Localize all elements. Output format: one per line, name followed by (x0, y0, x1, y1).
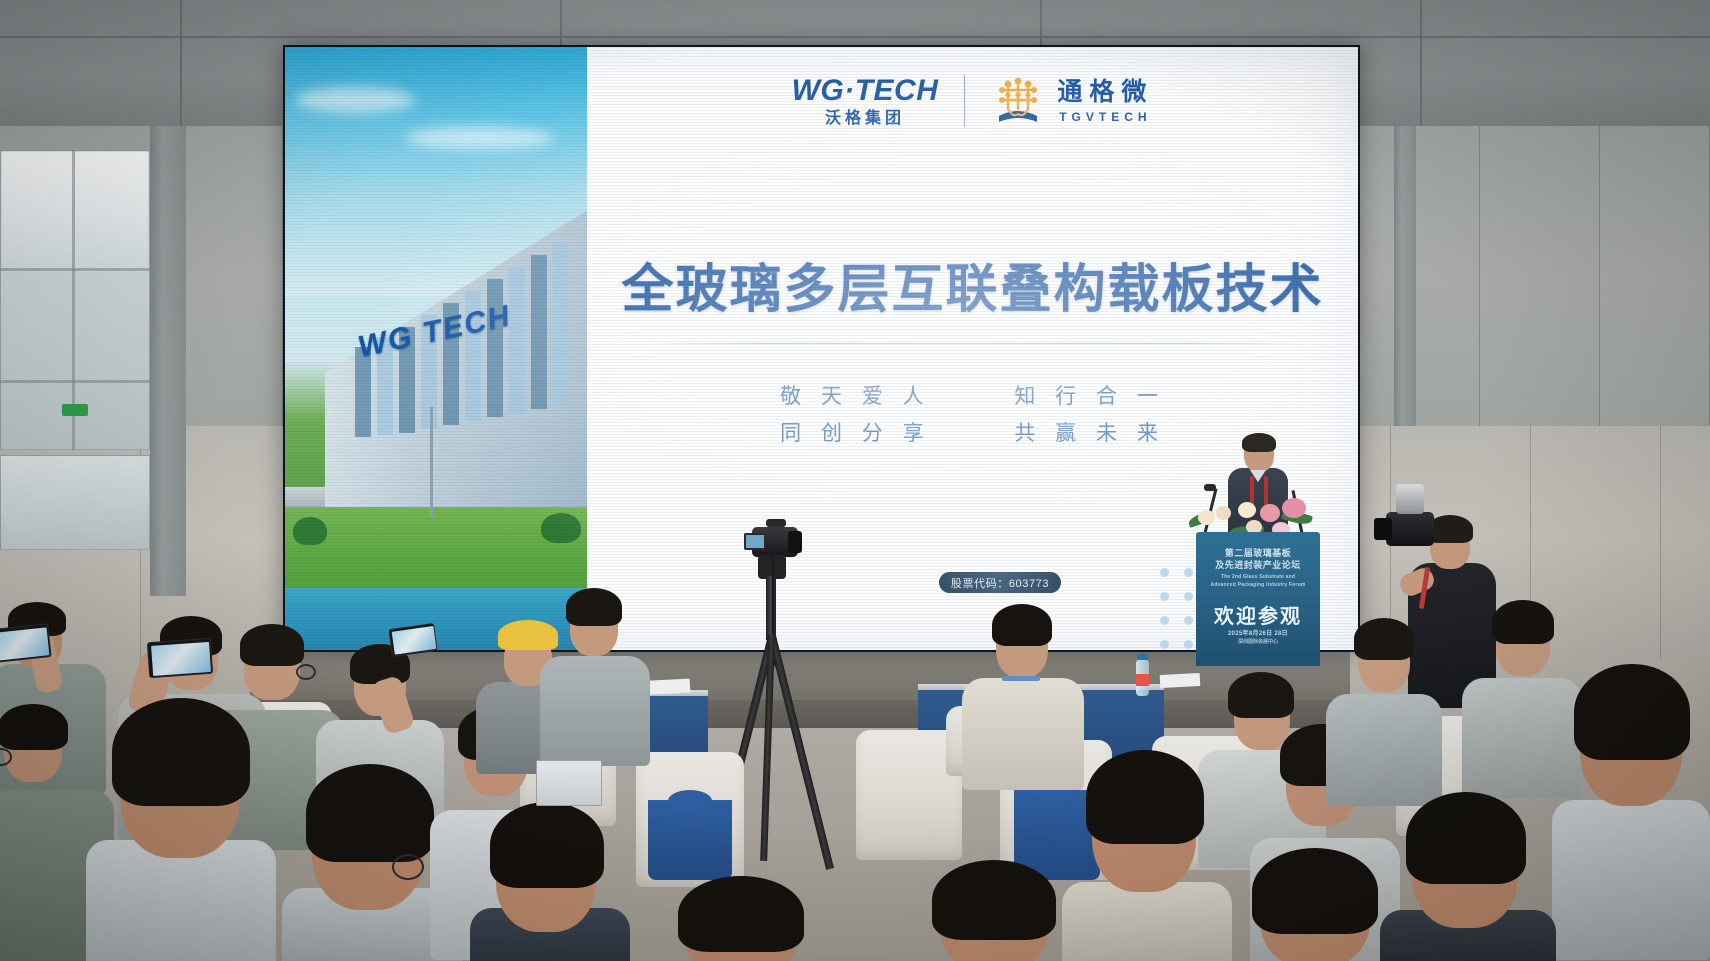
slide-title: 全玻璃多层互联叠构载板技术 (587, 247, 1358, 322)
hair (1406, 792, 1526, 884)
ceiling-seam (180, 0, 182, 126)
hair (1492, 600, 1554, 644)
hair (566, 588, 622, 626)
conference-hall-scene: WG TECH WG·TECH 沃格集团 (0, 0, 1710, 961)
wall-panel (1600, 126, 1710, 426)
podium-welcome-text: 欢迎参观 (1196, 600, 1320, 629)
smartphone (0, 623, 52, 663)
flower (1216, 506, 1231, 520)
flower-lily (1260, 504, 1280, 522)
logo-divider (964, 75, 965, 127)
window-mullion (0, 268, 150, 271)
lanyard (1002, 676, 1040, 681)
slide-building-photo: WG TECH (285, 47, 587, 650)
photo-building-window (531, 255, 547, 409)
eyeglasses (296, 664, 316, 680)
window-glare (2, 152, 148, 272)
tgvtech-logo: 通格微 TGVTECH (991, 76, 1153, 126)
ceiling-seam (0, 36, 1710, 38)
phone-screen (392, 626, 437, 655)
podium-english-line-1: The 2nd Glass Substrate and (1196, 574, 1320, 580)
torso (540, 656, 650, 766)
motto-1-right: 知 行 合 一 (1014, 385, 1165, 408)
flower-lily (1282, 498, 1306, 518)
hair (1574, 664, 1690, 760)
tgvtech-wordmark: TGVTECH (1059, 111, 1151, 123)
hair (1228, 672, 1294, 718)
hair (1354, 618, 1414, 660)
speaker-hair (1242, 433, 1276, 452)
window (0, 455, 150, 550)
hair (112, 698, 250, 806)
documents (1160, 673, 1201, 688)
wgtech-wordmark: WG·TECH (792, 76, 939, 106)
ceiling-seam (1420, 0, 1422, 126)
podium-date: 2025年8月26日 28日 (1196, 628, 1320, 637)
cloud (295, 87, 415, 113)
wgtech-chinese-name: 沃格集团 (825, 111, 905, 127)
wgtech-logo: WG·TECH 沃格集团 (792, 76, 939, 127)
laptop (536, 760, 602, 806)
camera-shotgun-mic (766, 519, 786, 527)
lamp-post (430, 407, 433, 517)
hair (490, 802, 604, 888)
hair (0, 704, 68, 750)
slide-logo-row: WG·TECH 沃格集团 (587, 65, 1358, 137)
chair-bow (668, 790, 712, 812)
photo-building-window (553, 243, 569, 405)
audience-member-foreground (640, 876, 840, 961)
hair (1086, 750, 1204, 844)
wall-seam (1660, 426, 1661, 676)
pillar (1394, 126, 1416, 426)
audience-member-foreground (470, 800, 630, 961)
podium-venue: 深圳国际会展中心 (1196, 638, 1320, 645)
motto-2-right: 共 赢 未 来 (1014, 422, 1165, 445)
motto-1-left: 敬 天 爱 人 (780, 385, 931, 408)
podium-title-line-2: 及先进封装产业论坛 (1196, 558, 1320, 571)
decorative-dot-grid (1160, 568, 1200, 650)
tgvtech-node-mark (991, 76, 1045, 126)
microphone-head (1204, 484, 1216, 491)
audience-member-foreground (86, 690, 276, 961)
tgvtech-text: 通格微 TGVTECH (1057, 80, 1153, 123)
bottle-label (1136, 674, 1149, 686)
audience-member (540, 586, 652, 766)
video-camera-lens (788, 531, 802, 553)
tree (541, 513, 581, 543)
wall-panel (1480, 126, 1600, 426)
audience-member (1326, 616, 1444, 806)
torso (86, 840, 276, 961)
flower (1198, 510, 1215, 525)
camera-flash (1396, 484, 1424, 514)
pillar (150, 126, 186, 596)
window-mullion (0, 380, 150, 383)
exit-sign (62, 404, 88, 416)
audience-member-foreground (1552, 660, 1710, 960)
tgvtech-chinese-name: 通格微 (1057, 80, 1153, 105)
hair (932, 860, 1056, 940)
podium: 第二届玻璃基板 及先进封装产业论坛 The 2nd Glass Substrat… (1196, 532, 1320, 666)
audience-member-foreground (900, 860, 1090, 961)
dslr-lens (1374, 518, 1392, 540)
wall-panel (1360, 126, 1480, 426)
bottle-cap (1137, 654, 1148, 660)
flower (1238, 502, 1256, 518)
chair-sash (648, 800, 732, 880)
hair (240, 624, 304, 666)
video-camera-flip-screen (744, 533, 766, 550)
photo-building-window (509, 267, 525, 413)
cloud (405, 127, 555, 149)
motto-2-left: 同 创 分 享 (780, 422, 931, 445)
hair (306, 764, 434, 862)
slide-motto-line-1: 敬 天 爱 人 知 行 合 一 (587, 380, 1358, 410)
stock-code-badge: 股票代码：603773 (939, 572, 1061, 593)
hair (678, 876, 804, 952)
phone-screen (0, 627, 49, 660)
eyeglasses (392, 854, 424, 880)
torso (1552, 800, 1710, 960)
tree (293, 517, 327, 545)
title-divider (645, 343, 1300, 344)
podium-english-line-2: Advanced Packaging Industry Forum (1196, 582, 1320, 588)
hair (992, 604, 1052, 646)
dslr-camera-body (1386, 512, 1434, 546)
hair (1252, 848, 1378, 934)
wall-panel (180, 126, 283, 426)
audience-member-foreground (1220, 848, 1410, 961)
